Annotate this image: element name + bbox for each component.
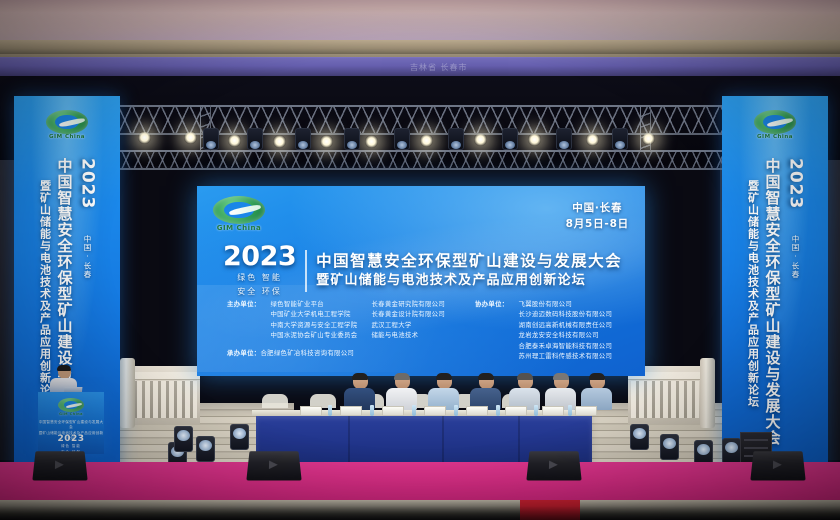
name-card (424, 406, 446, 416)
speaking-podium: GIM China 中国智慧安全环保型矿山建设与发展大会 暨矿山储能与电池技术及… (38, 392, 104, 454)
floor-moving-light-icon (230, 424, 249, 450)
water-bottle (328, 405, 332, 416)
event-title-sub: 暨矿山储能与电池技术及产品应用创新论坛 (316, 273, 622, 290)
balustrade-left (126, 366, 200, 424)
water-bottle (370, 405, 374, 416)
coorganizer-org: 合肥泰禾卓海智能科技有限公司 (519, 341, 613, 351)
stage-monitor-speaker (32, 451, 87, 480)
spotlight-icon (420, 134, 433, 147)
event-year: 2023 (223, 244, 296, 270)
year-block: 2023 绿色 智能 安全 环保 (223, 244, 305, 298)
event-slogan-line-1: 绿色 智能 (223, 272, 296, 284)
floor-moving-light-icon (196, 436, 215, 462)
panelist-head (554, 373, 569, 389)
floor-moving-light-icon (660, 434, 679, 460)
panelist-hair (478, 373, 494, 380)
gim-china-logo: GIM China (754, 110, 796, 144)
water-bottle (568, 405, 572, 416)
spotlight-icon (474, 133, 487, 146)
lighting-truss-lower (44, 150, 744, 170)
spotlight-icon (184, 131, 197, 144)
panelist-hair (352, 373, 368, 380)
panelist-head (590, 373, 605, 389)
water-bottle (454, 405, 458, 416)
gim-china-logo: GIM China (58, 398, 84, 418)
event-titles: 中国智慧安全环保型矿山建设与发展大会 暨矿山储能与电池技术及产品应用创新论坛 (316, 252, 622, 290)
undertaker-org: 合肥绿色矿冶科技咨询有限公司 (260, 349, 354, 357)
water-bottle (496, 405, 500, 416)
panelist-hair (517, 373, 533, 380)
name-card (505, 406, 527, 416)
spotlight-icon (528, 133, 541, 146)
name-card (382, 406, 404, 416)
moving-head-light-icon (612, 128, 628, 150)
coorganizer-org: 湖南创远高新机械有限责任公司 (519, 320, 613, 330)
moving-head-light-icon (344, 128, 360, 150)
gim-leaf-icon (213, 196, 265, 224)
host-org: 武汉工程大学 (371, 320, 445, 330)
balustrade-spindles (631, 381, 699, 418)
coorganizer-label-column: 协办单位： (475, 299, 508, 361)
stage-monitor-speaker (750, 451, 805, 480)
banner-year-place: 2023 中国·长春 (786, 158, 806, 498)
spotlight-icon (228, 134, 241, 147)
stair-newel-post-right (700, 358, 715, 428)
host-label: 主办单位： (227, 299, 260, 309)
moving-head-light-icon (295, 128, 311, 150)
panelist-hair (553, 373, 569, 380)
spotlight-icon (642, 132, 655, 145)
title-divider (305, 250, 307, 292)
gim-leaf-icon (46, 110, 88, 134)
podium-title-main: 中国智慧安全环保型矿山建设与发展大会 (38, 420, 104, 431)
foreground-shadow (0, 506, 840, 520)
moving-head-light-icon (203, 128, 219, 150)
host-org: 长春黄金研究院有限公司 (371, 299, 445, 309)
banner-place: 中国·长春 (790, 235, 801, 279)
panelist-head (518, 373, 533, 389)
panelist (581, 373, 613, 410)
undertaker-row: 承办单位：合肥绿色矿冶科技咨询有限公司 (227, 348, 354, 357)
floor-moving-light-icon (630, 424, 649, 450)
host-org: 长春黄金设计院有限公司 (371, 309, 445, 319)
moving-head-light-icon (448, 128, 464, 150)
name-card (466, 406, 488, 416)
coorganizer-org: 长沙迪迈数码科技股份有限公司 (519, 309, 613, 319)
host-org: 中国水泥协会矿山专业委员会 (270, 330, 357, 340)
drape-fold (442, 416, 444, 468)
balustrade-spindles (129, 381, 197, 418)
gim-china-logo: GIM China (213, 196, 265, 236)
coorganizer-org: 飞翼股份有限公司 (519, 299, 613, 309)
spotlight-icon (320, 135, 333, 148)
gim-china-logo: GIM China (46, 110, 88, 144)
chair-back (262, 394, 288, 408)
moving-head-light-icon (502, 128, 518, 150)
main-led-screen: GIM China 中国·长春 8月5日-8日 2023 绿色 智能 安全 环保… (197, 186, 645, 376)
panelist-head (395, 373, 410, 389)
host-org: 中国矿业大学机电工程学院 (270, 309, 357, 319)
gim-leaf-icon (58, 398, 84, 412)
panelist-hair (394, 373, 410, 380)
water-bottle (412, 405, 416, 416)
gim-logo-text: GIM China (757, 135, 793, 141)
coorganizer-column: 飞翼股份有限公司 长沙迪迈数码科技股份有限公司 湖南创远高新机械有限责任公司 龙… (519, 299, 613, 361)
speaker-hair (57, 365, 71, 371)
led-title-row: 2023 绿色 智能 安全 环保 中国智慧安全环保型矿山建设与发展大会 暨矿山储… (223, 244, 622, 298)
host-column-2: 长春黄金研究院有限公司 长春黄金设计院有限公司 武汉工程大学 储能与电池技术 (371, 299, 445, 361)
conference-stage-photo: 吉林省 长春市 GIM China 中国·长春 (0, 0, 840, 520)
gim-leaf-icon (754, 110, 796, 134)
banner-year: 2023 (786, 158, 806, 209)
coorganizer-label: 协办单位： (475, 299, 508, 309)
panelist-head (479, 373, 494, 389)
coorganizer-org: 苏州理工雷科传感技术有限公司 (519, 351, 613, 361)
gim-logo-text: GIM China (49, 135, 85, 141)
stage-carpet (0, 462, 840, 502)
stage-monitor-speaker (526, 451, 581, 480)
podium-year: 2023 (38, 434, 104, 444)
stair-newel-post-left (120, 358, 135, 428)
banner-place: 中国·长春 (82, 235, 93, 279)
spotlight-icon (586, 133, 599, 146)
venue-ceiling (0, 0, 840, 58)
panelist (545, 373, 577, 410)
spotlight-icon (273, 135, 286, 148)
host-org: 绿色智能矿业平台 (270, 299, 357, 309)
moving-head-light-icon (556, 128, 572, 150)
name-card (542, 406, 564, 416)
host-org: 中南大学资源与安全工程学院 (270, 320, 357, 330)
banner-year: 2023 (78, 158, 98, 209)
speaker-head (58, 365, 71, 379)
spotlight-icon (138, 131, 151, 144)
floor-moving-light-icon (174, 426, 193, 452)
moving-head-light-icon (247, 128, 263, 150)
panelist-head (353, 373, 368, 389)
name-card (300, 406, 322, 416)
moving-head-light-icon (394, 128, 410, 150)
event-slogan-line-2: 安全 环保 (223, 286, 296, 298)
host-org: 储能与电池技术 (371, 330, 445, 340)
event-location: 中国·长春 (566, 200, 629, 216)
gim-logo-text: GIM China (59, 413, 83, 416)
undertaker-label: 承办单位： (227, 349, 260, 357)
water-bottle (534, 405, 538, 416)
ceiling-beam (0, 40, 840, 54)
panelist-hair (436, 373, 452, 380)
coorganizer-org: 龙岩龙安安全科技有限公司 (519, 330, 613, 340)
event-title-main: 中国智慧安全环保型矿山建设与发展大会 (316, 252, 622, 271)
overhead-sign-text: 吉林省 长春市 (410, 62, 468, 73)
floor-moving-light-icon (722, 438, 741, 464)
spotlight-icon (365, 135, 378, 148)
event-dates: 8月5日-8日 (566, 216, 629, 232)
event-location-dates: 中国·长春 8月5日-8日 (566, 200, 629, 233)
drape-fold (348, 416, 350, 468)
name-card (340, 406, 362, 416)
stage-monitor-speaker (246, 451, 301, 480)
panelist-hair (589, 373, 605, 380)
podium-slogan-line-1: 绿色 智能 (38, 444, 104, 449)
gim-logo-text: GIM China (217, 225, 261, 232)
drape-fold (518, 416, 520, 468)
panelist-head (437, 373, 452, 389)
ceiling-uplight-glow (0, 0, 840, 40)
name-card (575, 406, 597, 416)
